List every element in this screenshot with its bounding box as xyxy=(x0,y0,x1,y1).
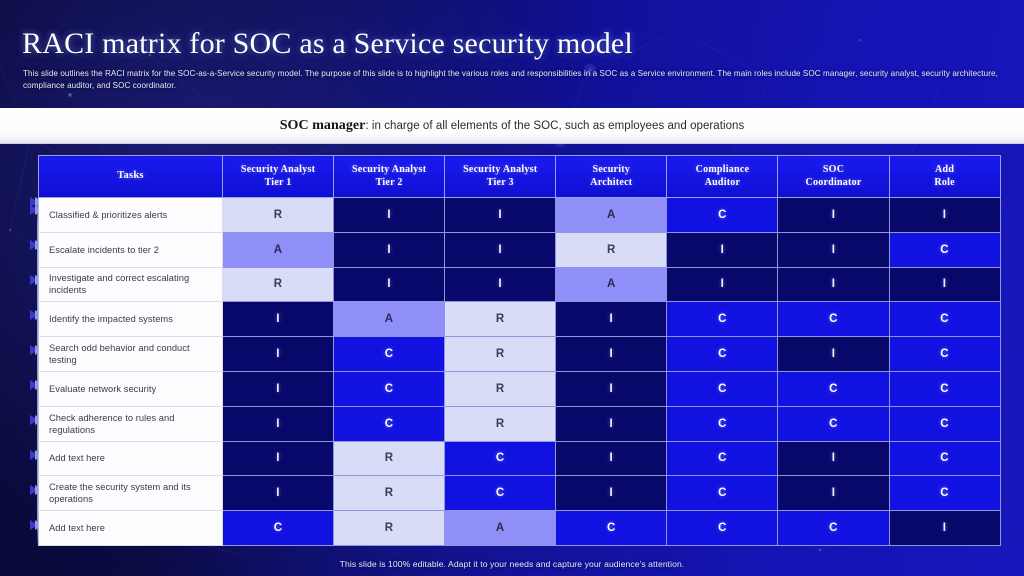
raci-value-cell: I xyxy=(889,511,1000,546)
soc-manager-role-label: SOC manager xyxy=(280,118,366,133)
column-header-role: Security AnalystTier 1 xyxy=(223,156,334,198)
task-label: Classified & prioritizes alerts xyxy=(39,198,223,233)
table-row: Evaluate network securityICRICCC xyxy=(39,371,1001,406)
raci-value-cell: C xyxy=(889,232,1000,267)
raci-value-cell: R xyxy=(334,511,445,546)
raci-value-cell: C xyxy=(889,441,1000,476)
table-row: Add text hereCRACCCI xyxy=(39,511,1001,546)
raci-value-cell: I xyxy=(556,406,667,441)
soc-manager-banner-text: SOC manager: in charge of all elements o… xyxy=(280,118,745,134)
raci-value-cell: I xyxy=(778,337,889,372)
raci-value-cell: I xyxy=(667,232,778,267)
page-title: RACI matrix for SOC as a Service securit… xyxy=(22,27,633,61)
raci-value-cell: I xyxy=(778,198,889,233)
raci-value-cell: R xyxy=(445,337,556,372)
raci-value-cell: R xyxy=(223,198,334,233)
raci-value-cell: C xyxy=(667,371,778,406)
slide-header: RACI matrix for SOC as a Service securit… xyxy=(0,0,1024,108)
task-label: Evaluate network security xyxy=(39,371,223,406)
raci-value-cell: I xyxy=(334,198,445,233)
raci-value-cell: C xyxy=(889,371,1000,406)
raci-value-cell: A xyxy=(334,302,445,337)
raci-value-cell: C xyxy=(667,511,778,546)
table-row: Create the security system and its opera… xyxy=(39,476,1001,511)
raci-value-cell: R xyxy=(334,441,445,476)
raci-value-cell: A xyxy=(223,232,334,267)
task-label: Add text here xyxy=(39,441,223,476)
raci-value-cell: I xyxy=(778,441,889,476)
task-label: Search odd behavior and conduct testing xyxy=(39,337,223,372)
table-row: Investigate and correct escalating incid… xyxy=(39,267,1001,302)
raci-value-cell: I xyxy=(556,337,667,372)
task-label: Identify the impacted systems xyxy=(39,302,223,337)
raci-value-cell: I xyxy=(445,232,556,267)
raci-value-cell: R xyxy=(445,371,556,406)
raci-value-cell: C xyxy=(334,406,445,441)
page-subtitle: This slide outlines the RACI matrix for … xyxy=(23,68,1008,93)
table-header: TasksSecurity AnalystTier 1Security Anal… xyxy=(39,156,1001,198)
column-header-role: Security AnalystTier 3 xyxy=(445,156,556,198)
raci-matrix-table: TasksSecurity AnalystTier 1Security Anal… xyxy=(38,155,1001,546)
raci-value-cell: C xyxy=(778,406,889,441)
task-label: Escalate incidents to tier 2 xyxy=(39,232,223,267)
table-row: Add text hereIRCICIC xyxy=(39,441,1001,476)
column-header-role: Security AnalystTier 2 xyxy=(334,156,445,198)
raci-value-cell: C xyxy=(889,302,1000,337)
slide-footer-note: This slide is 100% editable. Adapt it to… xyxy=(0,559,1024,569)
task-label: Investigate and correct escalating incid… xyxy=(39,267,223,302)
raci-value-cell: C xyxy=(445,441,556,476)
raci-value-cell: I xyxy=(556,302,667,337)
column-header-role: ComplianceAuditor xyxy=(667,156,778,198)
raci-value-cell: C xyxy=(778,371,889,406)
table-row: Check adherence to rules and regulations… xyxy=(39,406,1001,441)
raci-value-cell: I xyxy=(556,476,667,511)
raci-value-cell: I xyxy=(556,441,667,476)
raci-value-cell: C xyxy=(223,511,334,546)
raci-value-cell: I xyxy=(556,371,667,406)
raci-value-cell: C xyxy=(778,511,889,546)
raci-value-cell: I xyxy=(223,337,334,372)
raci-value-cell: R xyxy=(445,302,556,337)
raci-value-cell: I xyxy=(223,302,334,337)
raci-value-cell: I xyxy=(778,267,889,302)
task-label: Add text here xyxy=(39,511,223,546)
raci-value-cell: I xyxy=(223,371,334,406)
raci-value-cell: C xyxy=(445,476,556,511)
raci-matrix-table-wrapper: TasksSecurity AnalystTier 1Security Anal… xyxy=(38,155,1000,546)
raci-value-cell: C xyxy=(889,476,1000,511)
task-label: Create the security system and its opera… xyxy=(39,476,223,511)
raci-value-cell: C xyxy=(889,406,1000,441)
raci-value-cell: A xyxy=(556,198,667,233)
task-label: Check adherence to rules and regulations xyxy=(39,406,223,441)
raci-value-cell: A xyxy=(556,267,667,302)
raci-value-cell: A xyxy=(445,511,556,546)
raci-value-cell: R xyxy=(223,267,334,302)
raci-value-cell: C xyxy=(556,511,667,546)
raci-value-cell: C xyxy=(667,441,778,476)
raci-value-cell: C xyxy=(667,302,778,337)
table-row: Classified & prioritizes alertsRIIACII xyxy=(39,198,1001,233)
raci-value-cell: I xyxy=(223,476,334,511)
raci-value-cell: I xyxy=(778,476,889,511)
table-row: Search odd behavior and conduct testingI… xyxy=(39,337,1001,372)
raci-value-cell: I xyxy=(445,267,556,302)
raci-value-cell: I xyxy=(667,267,778,302)
slide-canvas: RACI matrix for SOC as a Service securit… xyxy=(0,0,1024,576)
raci-value-cell: I xyxy=(889,198,1000,233)
table-row: Escalate incidents to tier 2AIIRIIC xyxy=(39,232,1001,267)
raci-value-cell: C xyxy=(889,337,1000,372)
column-header-role: SOCCoordinator xyxy=(778,156,889,198)
raci-value-cell: I xyxy=(223,441,334,476)
table-body: Classified & prioritizes alertsRIIACIIEs… xyxy=(39,198,1001,546)
raci-value-cell: R xyxy=(445,406,556,441)
raci-value-cell: C xyxy=(667,337,778,372)
raci-value-cell: I xyxy=(334,267,445,302)
raci-value-cell: C xyxy=(334,337,445,372)
table-header-row: TasksSecurity AnalystTier 1Security Anal… xyxy=(39,156,1001,198)
raci-value-cell: I xyxy=(445,198,556,233)
table-row: Identify the impacted systemsIARICCC xyxy=(39,302,1001,337)
soc-manager-banner: SOC manager: in charge of all elements o… xyxy=(0,108,1024,144)
raci-value-cell: C xyxy=(667,406,778,441)
raci-value-cell: I xyxy=(223,406,334,441)
raci-value-cell: C xyxy=(667,198,778,233)
raci-value-cell: I xyxy=(778,232,889,267)
raci-value-cell: I xyxy=(334,232,445,267)
raci-value-cell: C xyxy=(778,302,889,337)
column-header-tasks: Tasks xyxy=(39,156,223,198)
raci-value-cell: C xyxy=(667,476,778,511)
column-header-role: SecurityArchitect xyxy=(556,156,667,198)
soc-manager-role-description: : in charge of all elements of the SOC, … xyxy=(365,120,744,132)
raci-value-cell: I xyxy=(889,267,1000,302)
raci-value-cell: C xyxy=(334,371,445,406)
raci-value-cell: R xyxy=(334,476,445,511)
raci-value-cell: R xyxy=(556,232,667,267)
column-header-role: AddRole xyxy=(889,156,1000,198)
